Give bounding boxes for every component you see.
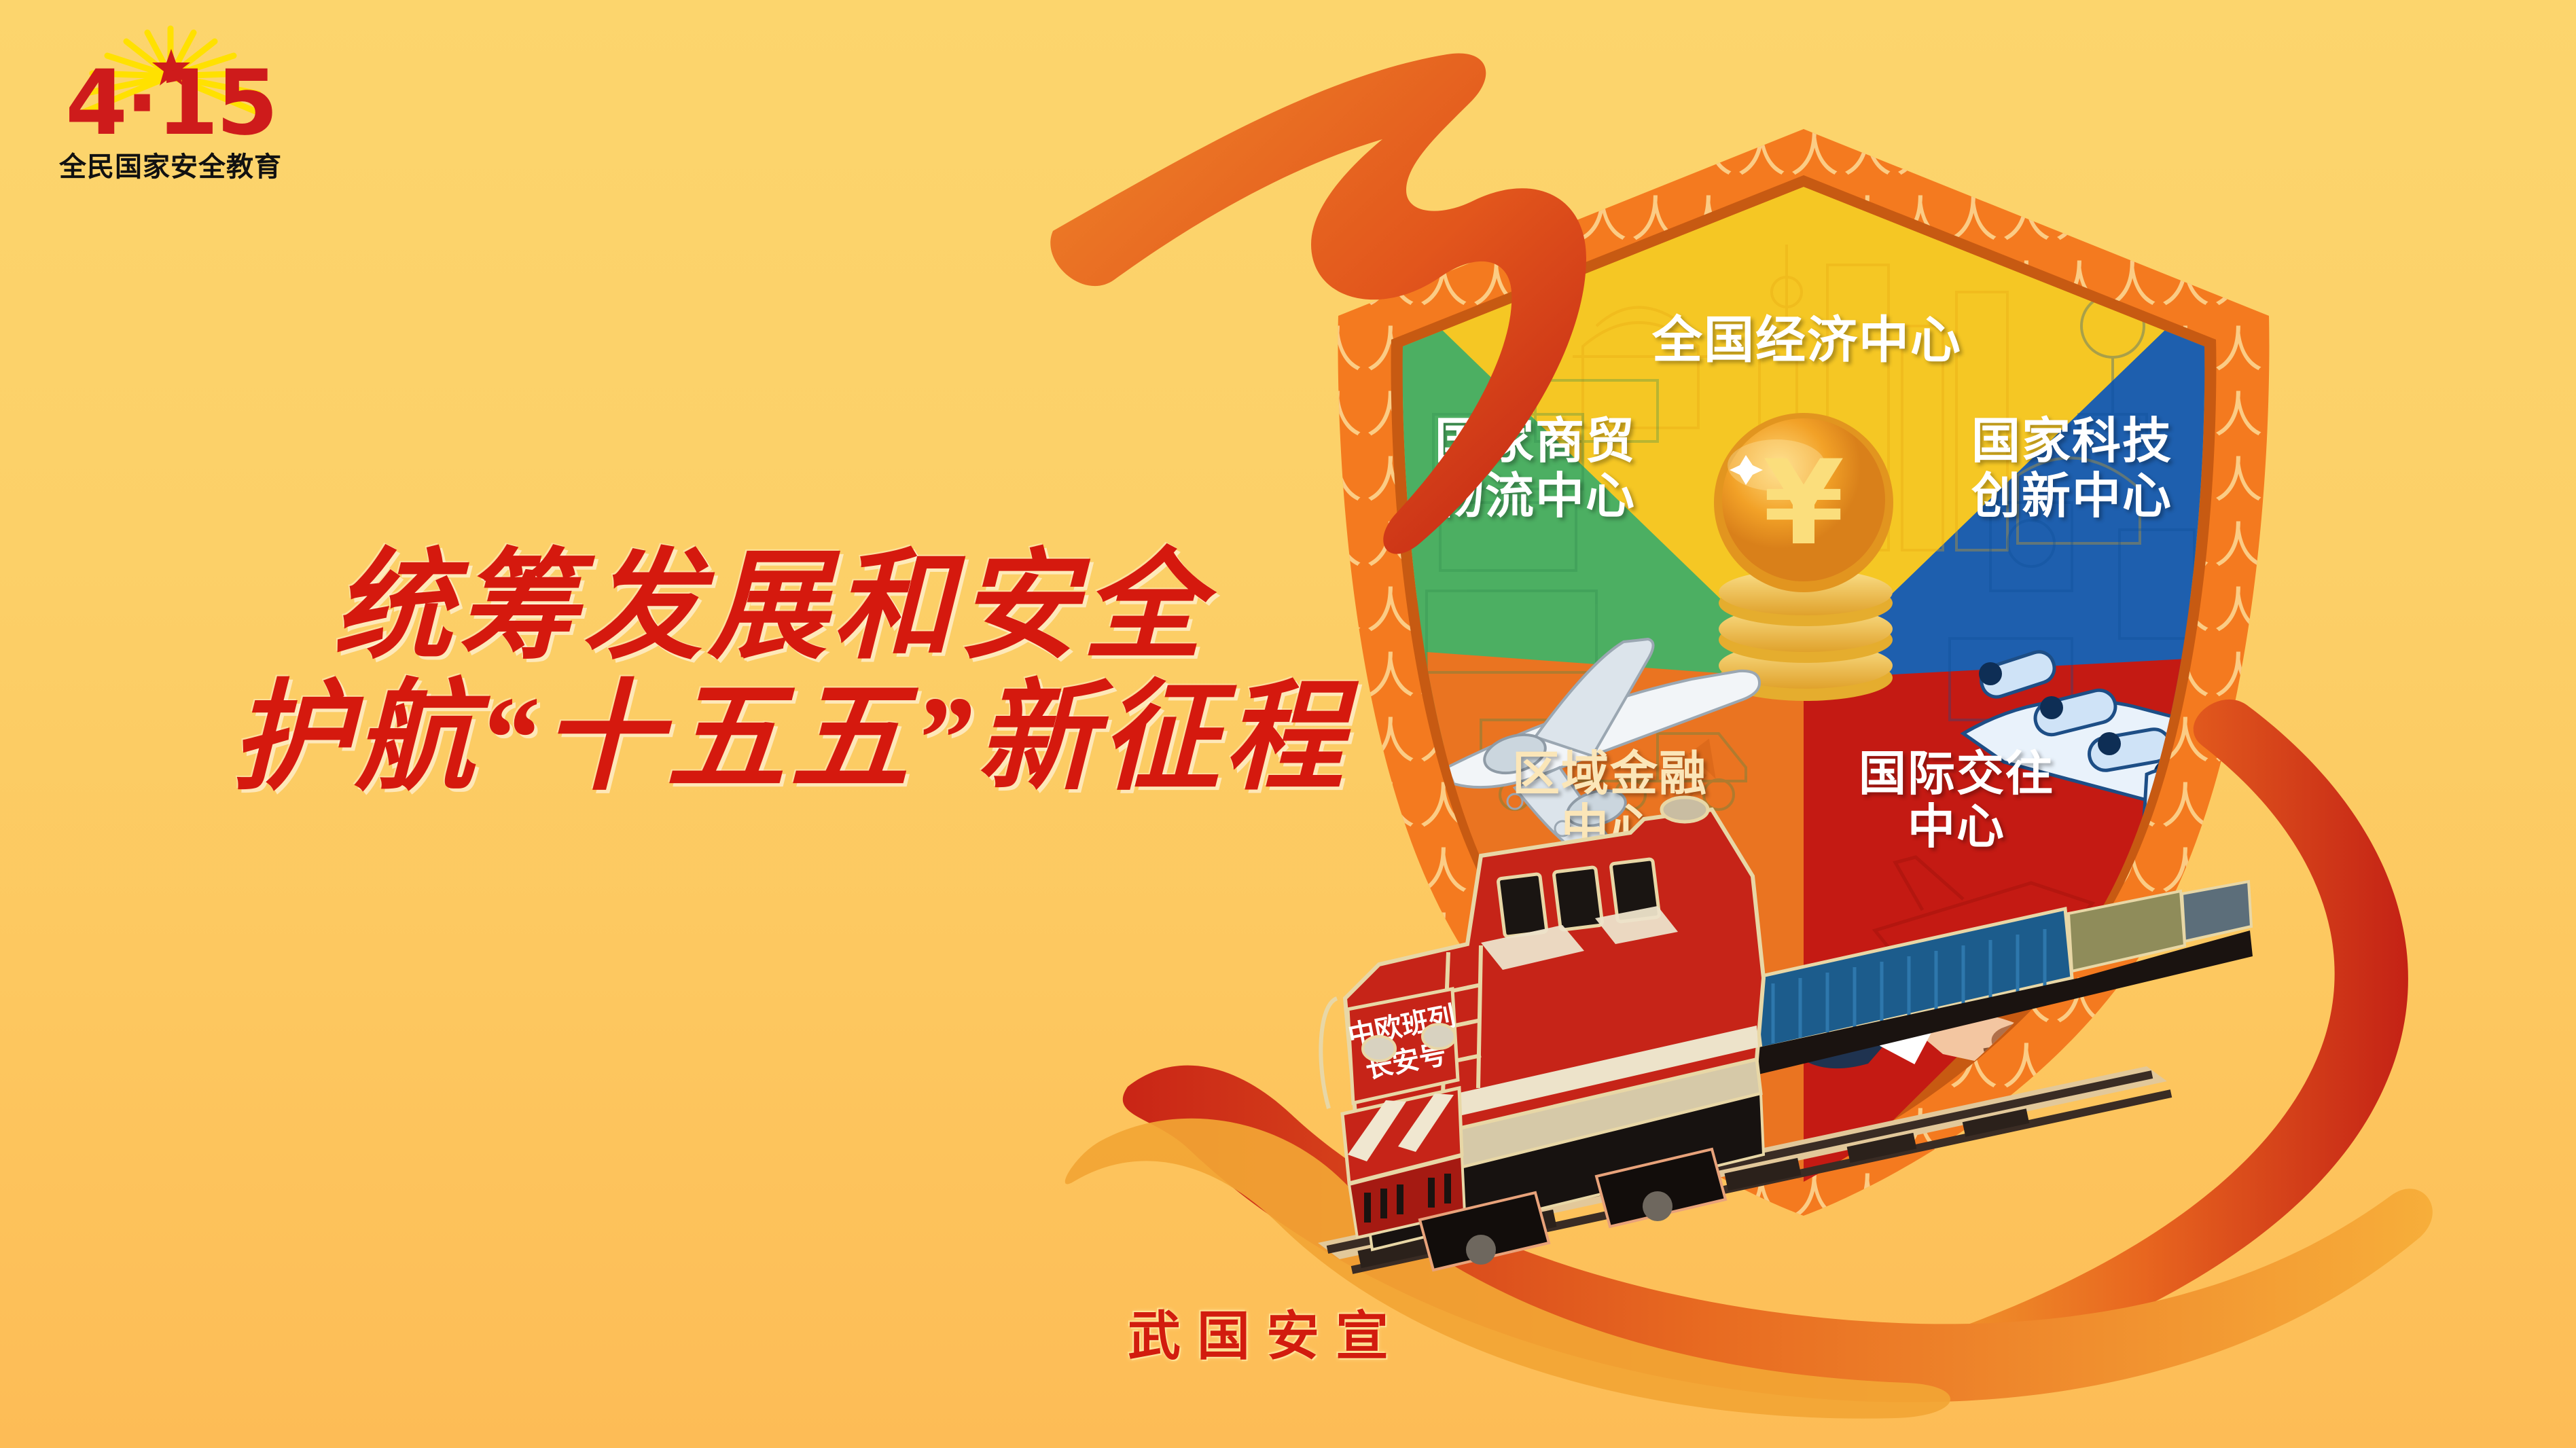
headline-line-1: 统筹发展和安全 <box>204 543 1304 672</box>
china-europe-train: 中欧班列 长安号 <box>1277 774 2296 1290</box>
svg-text:¥: ¥ <box>1763 435 1844 571</box>
logo-subtitle: 全民国家安全教育 <box>58 152 283 182</box>
container-cars <box>1753 882 2253 1076</box>
issuer-signature: 武国安宣 <box>1128 1307 1508 1366</box>
yuan-coin-icon: ¥ <box>1714 413 1893 701</box>
segment-label-economy: 全国经济中心 <box>1596 312 2018 369</box>
headline-line-2: 护航“十五五”新征程 <box>204 672 1304 806</box>
poster-canvas: 4·15 全民国家安全教育 统筹发展和安全 护航“十五五”新征程 人 <box>0 0 2576 1448</box>
segment-label-commerce: 国家商贸 物流中心 <box>1359 414 1712 524</box>
segment-label-technology: 国家科技 创新中心 <box>1895 414 2249 524</box>
locomotive: 中欧班列 长安号 <box>1321 797 1764 1270</box>
national-security-education-logo: 4·15 全民国家安全教育 <box>58 23 283 193</box>
poster-headline: 统筹发展和安全 护航“十五五”新征程 <box>204 543 1304 806</box>
logo-number: 4·15 <box>58 62 283 144</box>
